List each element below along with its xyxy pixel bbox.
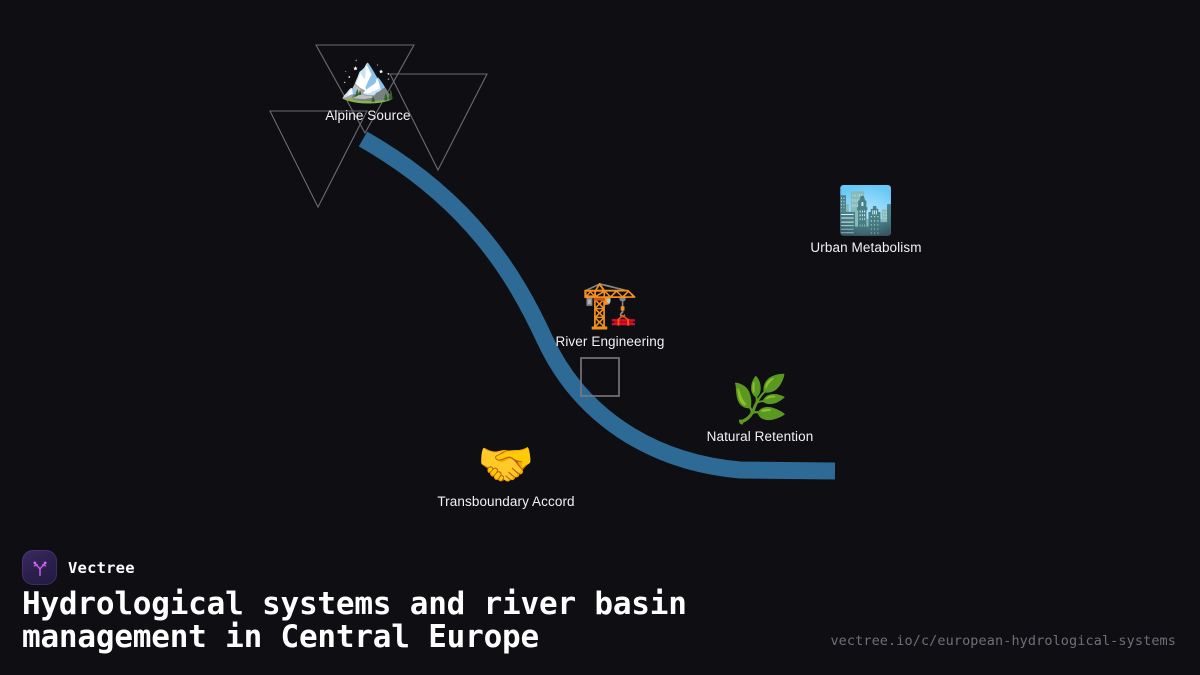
page-title-line-2: management in Central Europe [22,621,822,654]
node-alpine-source[interactable]: 🏔️ Alpine Source [278,52,458,124]
brand-name-label: Vectree [68,559,135,577]
triangle-outline-left [270,111,367,207]
node-label-alpine-source: Alpine Source [325,108,410,124]
node-urban-metabolism[interactable]: 🏙️ Urban Metabolism [776,184,956,256]
page-title: Hydrological systems and river basin man… [22,588,822,654]
vectree-glyph [29,557,51,579]
node-transboundary-accord[interactable]: 🤝 Transboundary Accord [416,438,596,510]
cityscape-icon: 🏙️ [837,184,894,236]
node-label-natural-retention: Natural Retention [707,429,814,445]
building-construction-icon: 🏗️ [581,278,638,330]
footer-url-label: vectree.io/c/european-hydrological-syste… [830,633,1176,649]
handshake-icon: 🤝 [477,438,534,490]
node-label-river-engineering: River Engineering [555,334,664,350]
app-root: 🏔️ Alpine Source 🏙️ Urban Metabolism 🏗️ … [0,0,1200,675]
page-title-line-1: Hydrological systems and river basin [22,588,822,621]
brand-block[interactable]: Vectree [22,550,135,585]
node-natural-retention[interactable]: 🌿 Natural Retention [670,373,850,445]
node-label-urban-metabolism: Urban Metabolism [810,240,921,256]
vectree-tree-logo-icon [22,550,57,585]
herb-leaf-icon: 🌿 [731,373,788,425]
footer-bar: Vectree Hydrological systems and river b… [0,540,1200,675]
snow-capped-mountain-icon: 🏔️ [339,52,396,104]
node-label-transboundary-accord: Transboundary Accord [437,494,574,510]
node-river-engineering[interactable]: 🏗️ River Engineering [520,278,700,350]
